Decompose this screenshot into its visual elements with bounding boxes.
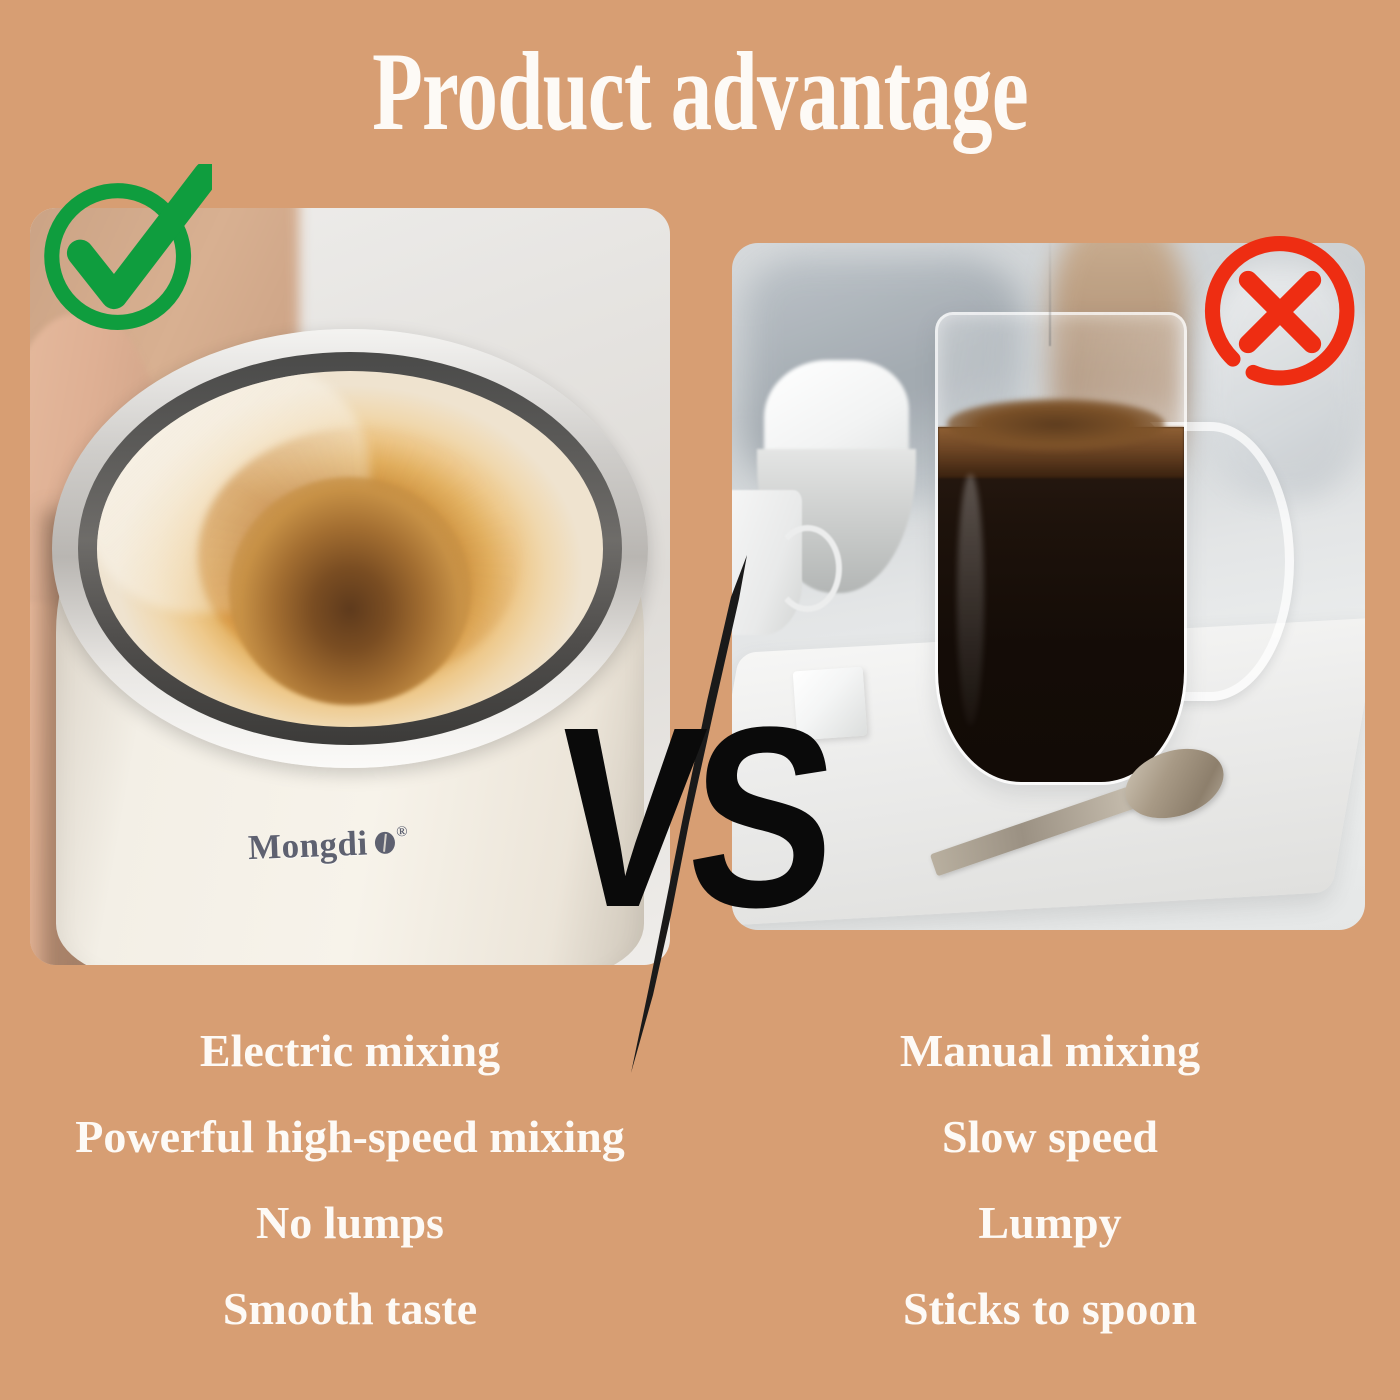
green-check-icon xyxy=(34,164,212,342)
feature-item: No lumps xyxy=(256,1200,444,1246)
steam-wisp xyxy=(1049,243,1051,346)
feature-item: Slow speed xyxy=(942,1114,1158,1160)
feature-item: Manual mixing xyxy=(900,1028,1200,1074)
glass-mug xyxy=(935,312,1188,785)
feature-item: Powerful high-speed mixing xyxy=(75,1114,624,1160)
coffee-bean-icon xyxy=(374,831,395,854)
page-title: Product advantage xyxy=(182,36,1218,148)
feature-item: Electric mixing xyxy=(200,1028,500,1074)
coffee-swirl xyxy=(198,428,522,684)
coffee-surface xyxy=(97,371,603,727)
coffee-vortex xyxy=(264,527,380,634)
red-cross-icon xyxy=(1196,228,1364,396)
registered-mark: ® xyxy=(396,824,408,841)
brand-logo: Mongdi ® xyxy=(247,822,409,868)
feature-item: Sticks to spoon xyxy=(903,1286,1197,1332)
brand-name: Mongdi xyxy=(247,823,368,868)
product-advantage-poster: Product advantage Mongdi ® xyxy=(0,0,1400,1400)
coffee-crema-surface xyxy=(947,399,1164,450)
versus-label: VS xyxy=(547,690,833,947)
bad-feature-column: Manual mixing Slow speed Lumpy Sticks to… xyxy=(700,1028,1400,1332)
feature-comparison-lists: Electric mixing Powerful high-speed mixi… xyxy=(0,1028,1400,1332)
feature-item: Smooth taste xyxy=(223,1286,477,1332)
small-cup-handle xyxy=(773,525,842,613)
good-feature-column: Electric mixing Powerful high-speed mixi… xyxy=(0,1028,700,1332)
feature-item: Lumpy xyxy=(978,1200,1121,1246)
